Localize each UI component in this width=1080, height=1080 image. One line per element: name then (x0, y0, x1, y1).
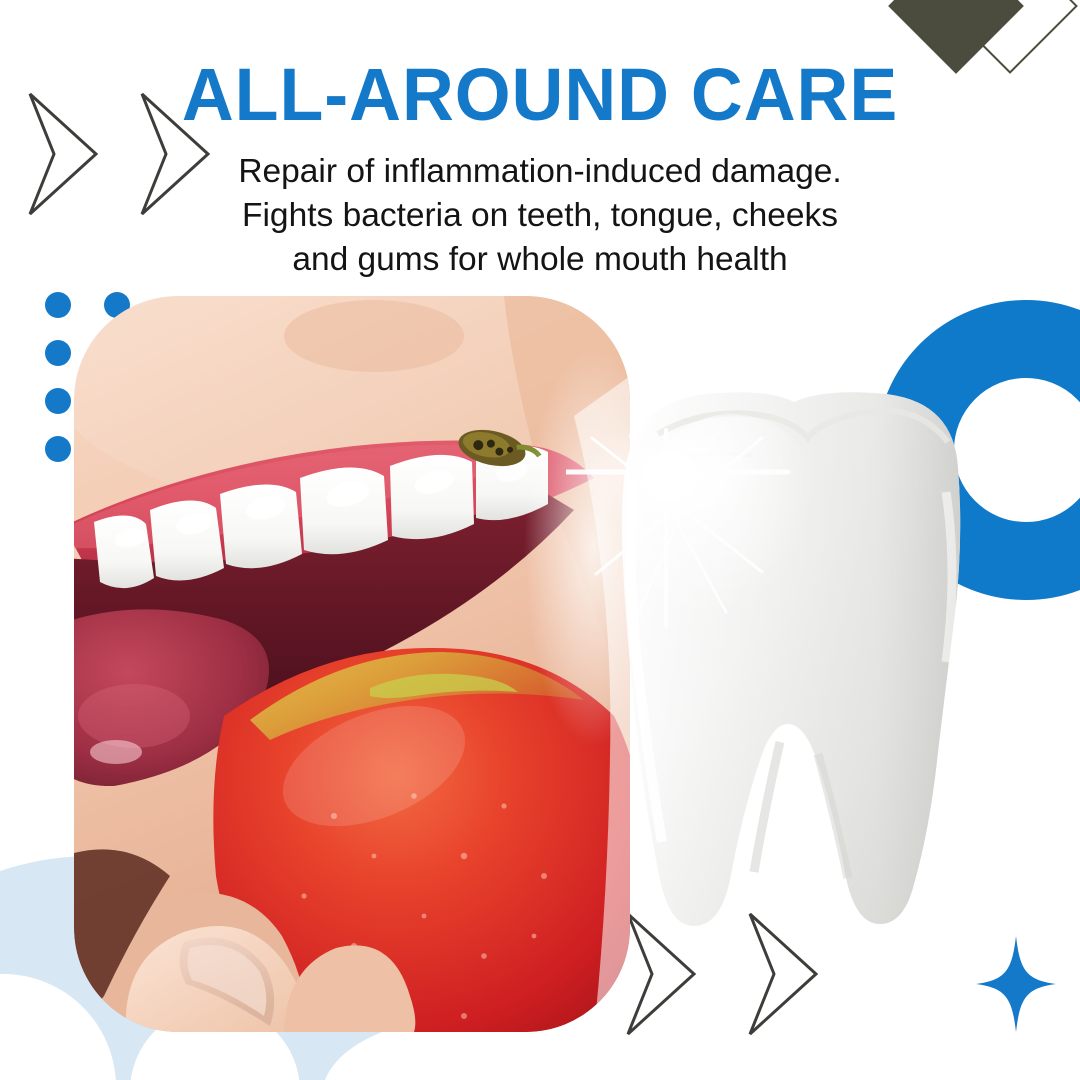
page-title: ALL-AROUND CARE (16, 58, 1064, 132)
blue-dot-icon (45, 292, 71, 318)
blue-dot-icon (45, 436, 71, 462)
tooth-graphic (566, 372, 1006, 942)
poster-canvas: ALL-AROUND CARE Repair of inflammation-i… (0, 0, 1080, 1080)
subtitle-line-2: Fights bacteria on teeth, tongue, cheeks (160, 194, 920, 239)
four-point-sparkle-icon (976, 936, 1056, 1032)
subtitle-line-3: and gums for whole mouth health (160, 238, 920, 283)
mouth-apple-photo (74, 296, 630, 1032)
blue-dot-icon (45, 340, 71, 366)
subtitle-line-1: Repair of inflammation-induced damage. (160, 150, 920, 195)
blue-dot-icon (45, 388, 71, 414)
